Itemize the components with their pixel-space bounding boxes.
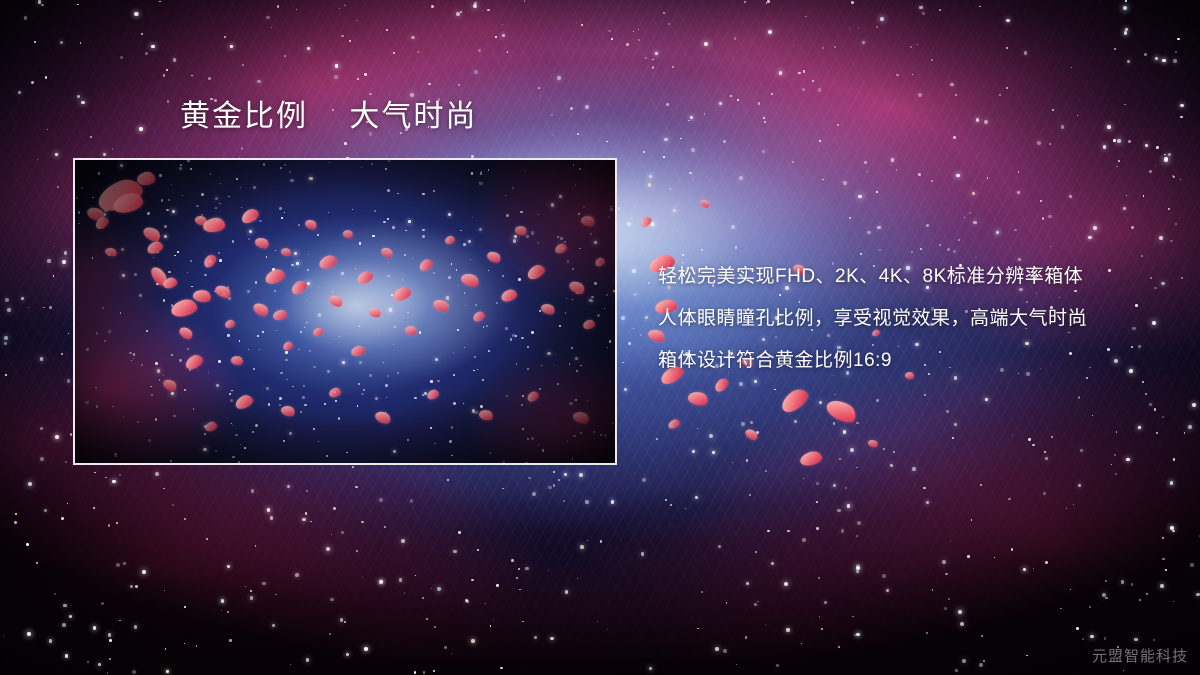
feature-description: 轻松完美实现FHD、2K、4K、8K标准分辨率箱体 人体眼睛瞳孔比例，享受视觉效… <box>658 256 1158 382</box>
framed-image <box>73 158 617 465</box>
watermark: 元盟智能科技 <box>1092 645 1188 666</box>
feature-line-3: 箱体设计符合黄金比例16:9 <box>658 340 1158 382</box>
page-title: 黄金比例 大气时尚 <box>180 100 477 134</box>
feature-line-2: 人体眼睛瞳孔比例，享受视觉效果，高端大气时尚 <box>658 298 1158 340</box>
photo-vignette <box>75 160 615 463</box>
presentation-slide: 黄金比例 大气时尚 轻松完美实现FHD、2K、4K、8K标准分辨率箱体 人体眼睛… <box>0 0 1200 675</box>
feature-line-1: 轻松完美实现FHD、2K、4K、8K标准分辨率箱体 <box>658 256 1158 298</box>
